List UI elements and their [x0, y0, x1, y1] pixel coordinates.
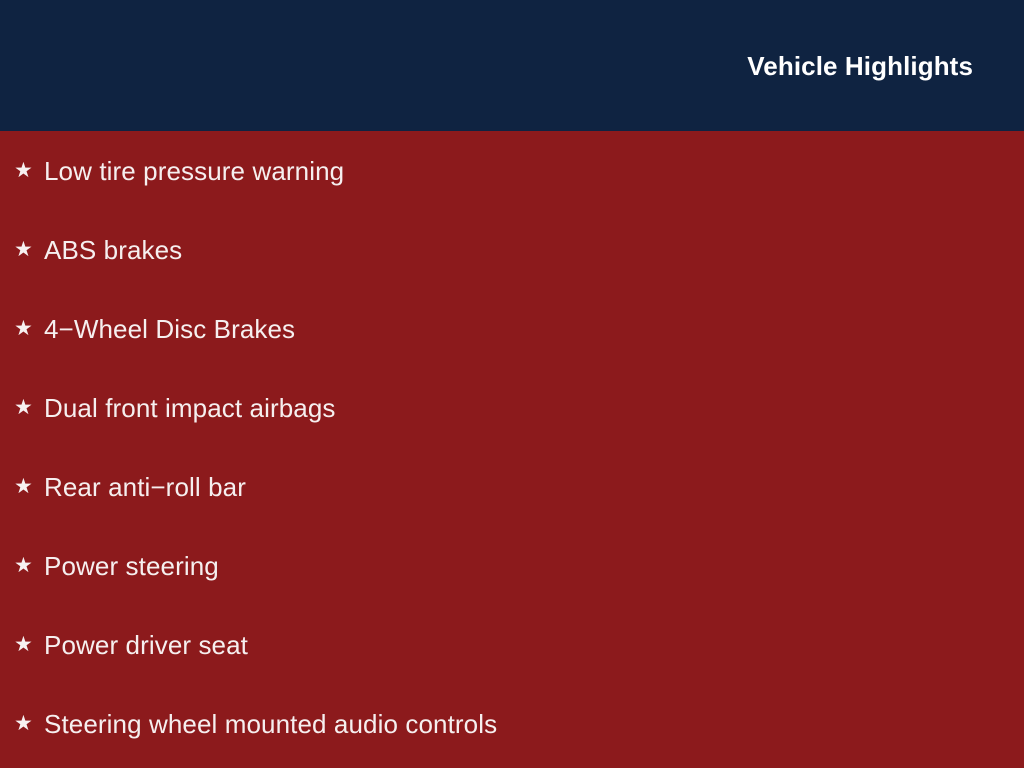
star-bullet-icon: ★	[14, 474, 33, 500]
star-bullet-icon: ★	[14, 158, 33, 184]
header-band: Vehicle Highlights	[0, 0, 1024, 131]
list-item: ★Steering wheel mounted audio controls	[0, 684, 1024, 763]
highlight-label: 4−Wheel Disc Brakes	[44, 314, 295, 344]
highlight-label: Low tire pressure warning	[44, 156, 344, 186]
list-item: ★Low tire pressure warning	[0, 131, 1024, 210]
highlight-label: Power steering	[44, 551, 219, 581]
highlights-body: ★Low tire pressure warning★ABS brakes★4−…	[0, 131, 1024, 768]
star-bullet-icon: ★	[14, 711, 33, 737]
list-item: ★Rear anti−roll bar	[0, 447, 1024, 526]
star-bullet-icon: ★	[14, 553, 33, 579]
highlight-label: Dual front impact airbags	[44, 393, 336, 423]
page-title: Vehicle Highlights	[747, 0, 973, 133]
list-item: ★Power driver seat	[0, 605, 1024, 684]
star-bullet-icon: ★	[14, 237, 33, 263]
highlight-label: Rear anti−roll bar	[44, 472, 246, 502]
highlight-label: Power driver seat	[44, 630, 248, 660]
star-bullet-icon: ★	[14, 395, 33, 421]
vehicle-highlights-list: ★Low tire pressure warning★ABS brakes★4−…	[0, 131, 1024, 763]
star-bullet-icon: ★	[14, 632, 33, 658]
star-bullet-icon: ★	[14, 316, 33, 342]
highlight-label: Steering wheel mounted audio controls	[44, 709, 497, 739]
vehicle-highlights-slide: Vehicle Highlights ★Low tire pressure wa…	[0, 0, 1024, 768]
list-item: ★ABS brakes	[0, 210, 1024, 289]
highlight-label: ABS brakes	[44, 235, 182, 265]
list-item: ★Power steering	[0, 526, 1024, 605]
list-item: ★Dual front impact airbags	[0, 368, 1024, 447]
list-item: ★4−Wheel Disc Brakes	[0, 289, 1024, 368]
